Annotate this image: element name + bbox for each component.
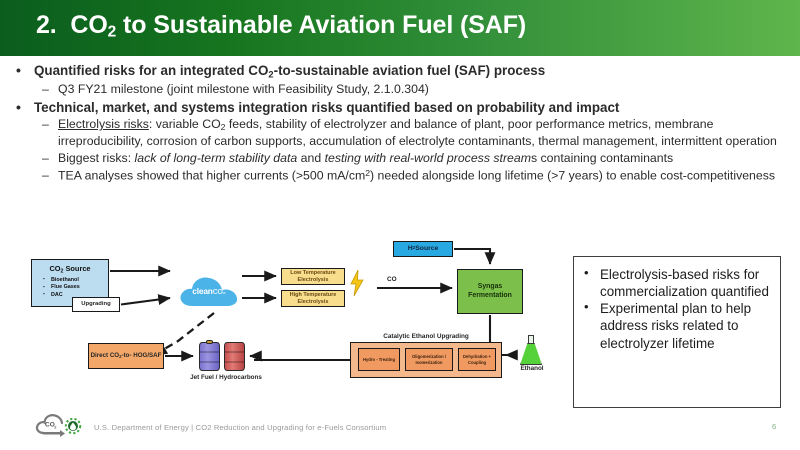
callout-box: Electrolysis-based risks for commerciali… bbox=[573, 256, 781, 408]
svg-text:2: 2 bbox=[54, 424, 57, 429]
title-co2-prefix: CO bbox=[70, 11, 107, 39]
red-barrel-icon bbox=[224, 342, 245, 371]
clean-co2-cloud-icon: cleanCO₂ bbox=[178, 273, 240, 309]
list-item: Bioethanol bbox=[43, 277, 103, 285]
jet-fuel-hydrocarbons-label: Jet Fuel / Hydrocarbons bbox=[176, 374, 276, 381]
biggest-risks-italic-2: testing with real-world process stream bbox=[325, 151, 531, 165]
co2-cloud-droplet-logo: CO 2 bbox=[34, 412, 86, 442]
title-co2-subscript: 2 bbox=[108, 23, 117, 40]
title-number: 2. bbox=[36, 11, 57, 39]
catalytic-ethanol-upgrading-title: Catalytic Ethanol Upgrading bbox=[346, 333, 506, 340]
title-rest: to Sustainable Aviation Fuel (SAF) bbox=[116, 11, 526, 39]
bullet1-text-a: Quantified risks for an integrated CO bbox=[34, 63, 268, 78]
biggest-risks-text-a: Biggest risks: bbox=[58, 151, 135, 165]
co2-source-title-b: Source bbox=[63, 264, 90, 273]
bullet1-text-b: -to-sustainable aviation fuel (SAF) proc… bbox=[274, 63, 546, 78]
process-flow-diagram: CO2 Source Bioethanol Flue Gases DAC Upg… bbox=[28, 243, 558, 408]
upgrading-box: Upgrading bbox=[72, 297, 120, 312]
direct-text-a: Direct CO bbox=[91, 352, 120, 359]
page-title: 2. CO2 to Sustainable Aviation Fuel (SAF… bbox=[36, 11, 526, 41]
callout-bullet-2: Experimental plan to help address risks … bbox=[580, 300, 772, 351]
bullet-level2-biggest-risks: Biggest risks: lack of long-term stabili… bbox=[12, 151, 788, 167]
oligomerization-isomerization-box: Oligomerization / Isomerization bbox=[405, 348, 453, 371]
ethanol-label: Ethanol bbox=[508, 365, 556, 372]
cloud-label-co2: CO₂ bbox=[213, 289, 226, 296]
lightning-bolt-icon bbox=[350, 270, 364, 300]
biggest-risks-text-c: s containing contaminants bbox=[531, 151, 673, 165]
biggest-risks-text-b: and bbox=[297, 151, 324, 165]
syngas-fermentation-box: Syngas Fermentation bbox=[457, 269, 523, 314]
cloud-label-clean: clean bbox=[192, 286, 212, 296]
slide-root: 2. CO2 to Sustainable Aviation Fuel (SAF… bbox=[0, 0, 800, 450]
logo-shape: CO 2 bbox=[34, 412, 86, 442]
flask-body bbox=[520, 343, 542, 365]
bullet-level2-tea-analyses: TEA analyses showed that higher currents… bbox=[12, 168, 788, 184]
bullet-level1-technical-market: Technical, market, and systems integrati… bbox=[12, 99, 788, 117]
bullet-level2-milestone: Q3 FY21 milestone (joint milestone with … bbox=[12, 82, 788, 98]
biggest-risks-italic-1: lack of long-term stability data bbox=[135, 151, 298, 165]
footer-text: U.S. Department of Energy | CO2 Reductio… bbox=[94, 423, 386, 432]
h2-source-box: H2 Source bbox=[393, 241, 453, 257]
clean-co2-label: cleanCO₂ bbox=[178, 286, 240, 296]
bullet-milestone-text: Q3 FY21 milestone (joint milestone with … bbox=[58, 82, 429, 96]
blue-barrel-icon bbox=[199, 342, 220, 371]
fuel-barrels-icon bbox=[197, 339, 253, 373]
barrel-cap-icon bbox=[206, 340, 213, 344]
direct-co2-to-hog-saf-box: Direct CO2-to- HOG/SAF bbox=[88, 343, 164, 369]
bullet2-text: Technical, market, and systems integrati… bbox=[34, 100, 619, 115]
dehydration-coupling-box: Dehydration + Coupling bbox=[458, 348, 496, 371]
co2-source-title: CO2 Source bbox=[37, 264, 103, 275]
tea-text-b: ) needed alongside long lifetime (>7 yea… bbox=[370, 168, 775, 182]
bolt-shape bbox=[350, 270, 364, 296]
electrolysis-risks-label: Electrolysis risks bbox=[58, 117, 149, 131]
ethanol-flask-icon bbox=[518, 335, 544, 367]
callout-bullet-1: Electrolysis-based risks for commerciali… bbox=[580, 266, 772, 300]
hydro-treating-box: Hydro - Treating bbox=[358, 348, 400, 371]
bullet-list: Quantified risks for an integrated CO2-t… bbox=[12, 62, 788, 185]
h2-source-b: Source bbox=[415, 245, 438, 253]
co-arrow-label: CO bbox=[387, 276, 397, 283]
title-bar: 2. CO2 to Sustainable Aviation Fuel (SAF… bbox=[0, 0, 800, 56]
bullet-level2-electrolysis-risks: Electrolysis risks: variable CO2 feeds, … bbox=[12, 117, 788, 149]
flask-neck bbox=[528, 335, 534, 344]
bullet-level1-quantified-risks: Quantified risks for an integrated CO2-t… bbox=[12, 62, 788, 81]
low-temperature-electrolysis-box: Low Temperature Electrolysis bbox=[281, 268, 345, 285]
tea-text-a: TEA analyses showed that higher currents… bbox=[58, 168, 365, 182]
page-number: 6 bbox=[772, 422, 776, 431]
high-temperature-electrolysis-box: High Temperature Electrolysis bbox=[281, 290, 345, 307]
electrolysis-text-a: : variable CO bbox=[149, 117, 221, 131]
direct-text-b: -to- HOG/SAF bbox=[122, 352, 162, 359]
co2-source-title-a: CO bbox=[49, 264, 60, 273]
list-item: Flue Gases bbox=[43, 284, 103, 292]
